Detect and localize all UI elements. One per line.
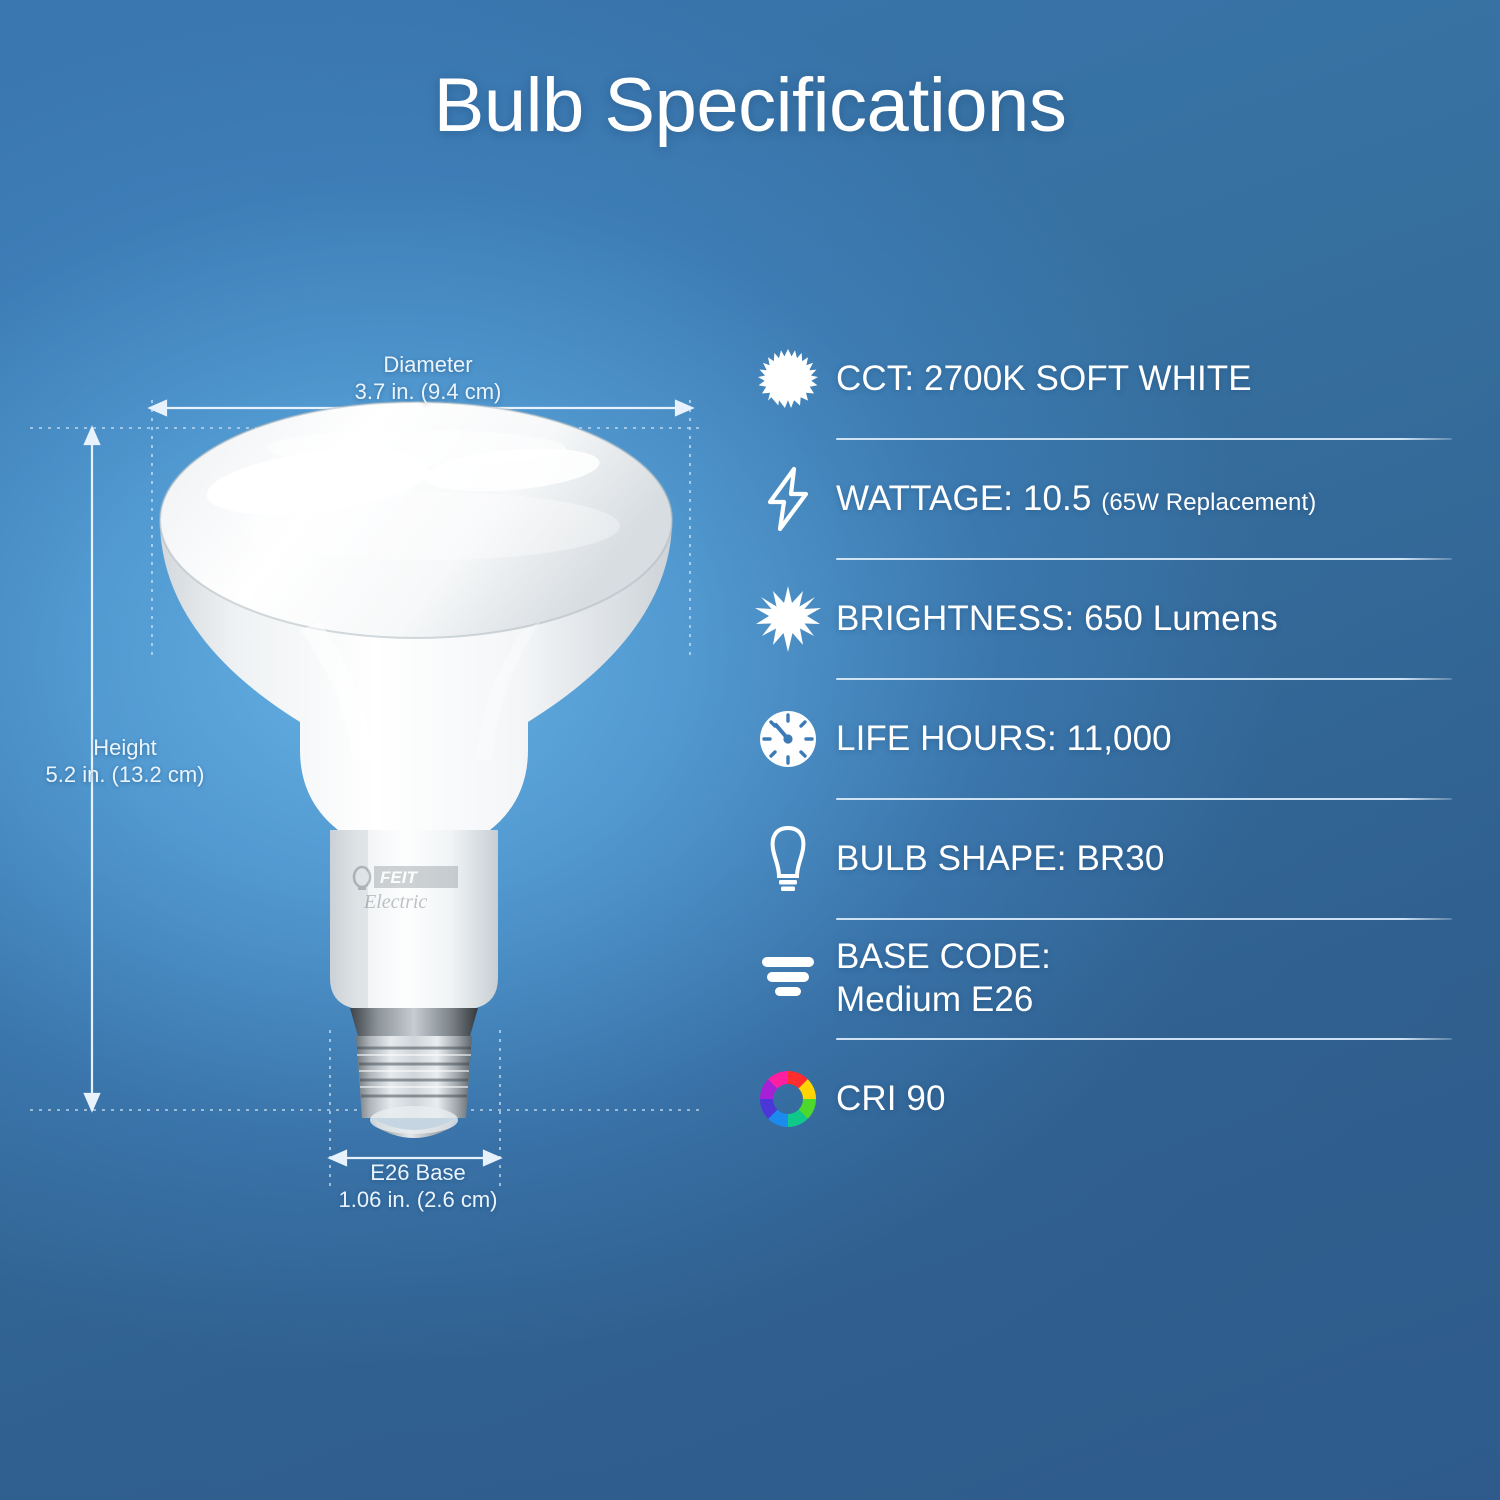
bulb-shape-icon	[740, 824, 836, 894]
screw-base-icon	[740, 953, 836, 1005]
spec-value-cri: CRI 90	[836, 1079, 946, 1118]
diameter-label-title: Diameter	[268, 352, 588, 379]
spec-row-cct: CCT: 2700K SOFT WHITE	[740, 320, 1452, 438]
spec-row-cri: CRI 90	[740, 1040, 1452, 1158]
page-title: Bulb Specifications	[0, 62, 1500, 149]
spec-row-life-hours: LIFE HOURS: 11,000	[740, 680, 1452, 798]
bulb-dimension-diagram: FEIT Electric Diameter 3.7 in. (9.4 cm) …	[0, 330, 730, 1250]
height-label-title: Height	[10, 735, 240, 762]
spec-sub-wattage: (65W Replacement)	[1101, 489, 1316, 516]
height-label-value: 5.2 in. (13.2 cm)	[10, 762, 240, 789]
spec-row-wattage: WATTAGE: 10.5 (65W Replacement)	[740, 440, 1452, 558]
spec-value-life-hours: LIFE HOURS: 11,000	[836, 719, 1172, 758]
spec-row-brightness: BRIGHTNESS: 650 Lumens	[740, 560, 1452, 678]
spec-label-base-code: BASE CODE: Medium E26	[836, 936, 1051, 1021]
spec-value-base-code: BASE CODE:	[836, 936, 1051, 979]
spec-row-base-code: BASE CODE: Medium E26	[740, 920, 1452, 1038]
spec-label-cri: CRI 90	[836, 1078, 946, 1121]
brightness-sun-icon	[740, 586, 836, 652]
bulb-tip-cap	[370, 1106, 458, 1134]
spec-label-life-hours: LIFE HOURS: 11,000	[836, 718, 1172, 761]
bulb-diagram-svg: FEIT Electric	[0, 330, 730, 1250]
spec-label-wattage: WATTAGE: 10.5 (65W Replacement)	[836, 478, 1316, 521]
neck-shadow-left	[330, 830, 368, 1008]
base-label-value: 1.06 in. (2.6 cm)	[258, 1187, 578, 1214]
color-wheel-icon	[740, 1067, 836, 1131]
spec-value-bulb-shape: BULB SHAPE: BR30	[836, 839, 1164, 878]
svg-text:Electric: Electric	[363, 891, 427, 913]
spec-label-cct: CCT: 2700K SOFT WHITE	[836, 358, 1252, 401]
sun-gear-icon	[740, 348, 836, 410]
svg-text:FEIT: FEIT	[380, 868, 418, 887]
diameter-label: Diameter 3.7 in. (9.4 cm)	[268, 352, 588, 406]
spec-label-bulb-shape: BULB SHAPE: BR30	[836, 838, 1164, 881]
bulb-screw-base	[356, 1036, 472, 1118]
spec-row-bulb-shape: BULB SHAPE: BR30	[740, 800, 1452, 918]
specifications-list: CCT: 2700K SOFT WHITE WATTAGE: 10.5 (65W…	[740, 320, 1452, 1158]
base-label-title: E26 Base	[258, 1160, 578, 1187]
spec-value-brightness: BRIGHTNESS: 650 Lumens	[836, 599, 1278, 638]
lightning-bolt-icon	[740, 466, 836, 532]
clock-icon	[740, 708, 836, 770]
spec-sub-base-code: Medium E26	[836, 979, 1051, 1022]
bulb-collar	[350, 1008, 478, 1036]
diameter-label-value: 3.7 in. (9.4 cm)	[268, 379, 588, 406]
spec-label-brightness: BRIGHTNESS: 650 Lumens	[836, 598, 1278, 641]
height-label: Height 5.2 in. (13.2 cm)	[10, 735, 240, 789]
base-label: E26 Base 1.06 in. (2.6 cm)	[258, 1160, 578, 1214]
spec-value-cct: CCT: 2700K SOFT WHITE	[836, 359, 1252, 398]
spec-value-wattage: WATTAGE: 10.5	[836, 479, 1101, 518]
